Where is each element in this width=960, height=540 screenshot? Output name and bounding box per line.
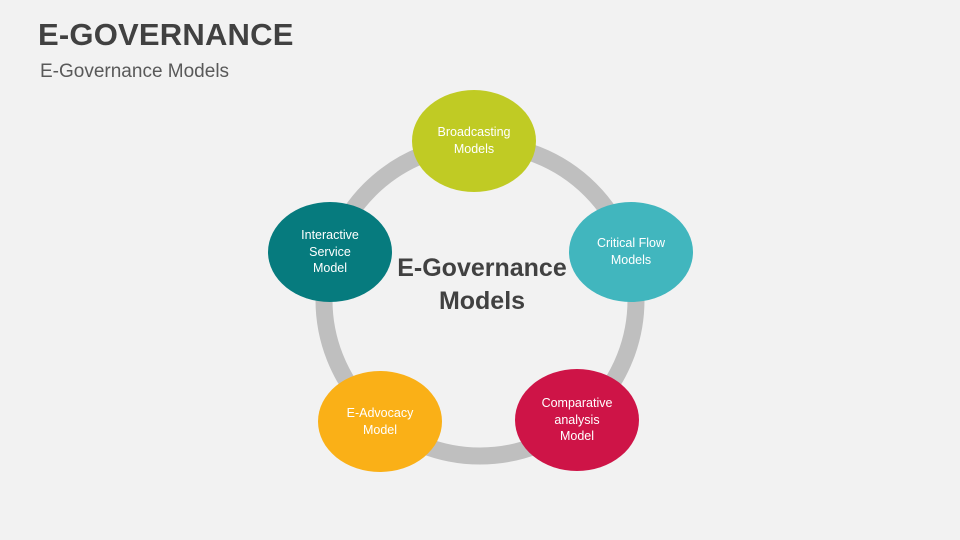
node-broadcasting-label: Broadcasting Models <box>438 124 511 158</box>
node-interactive-service-label: Interactive Service Model <box>301 227 359 278</box>
node-critical-flow-label: Critical Flow Models <box>597 235 665 269</box>
node-comparative-analysis-label: Comparative analysis Model <box>542 395 613 446</box>
node-e-advocacy[interactable]: E-Advocacy Model <box>318 371 442 472</box>
cycle-diagram: Broadcasting Models Critical Flow Models… <box>0 0 960 540</box>
node-comparative-analysis[interactable]: Comparative analysis Model <box>515 369 639 471</box>
node-critical-flow[interactable]: Critical Flow Models <box>569 202 693 302</box>
node-interactive-service[interactable]: Interactive Service Model <box>268 202 392 302</box>
node-e-advocacy-label: E-Advocacy Model <box>347 405 414 439</box>
node-broadcasting[interactable]: Broadcasting Models <box>412 90 536 192</box>
slide: E-GOVERNANCE E-Governance Models Broadca… <box>0 0 960 540</box>
diagram-center-label: E-Governance Models <box>382 252 582 318</box>
